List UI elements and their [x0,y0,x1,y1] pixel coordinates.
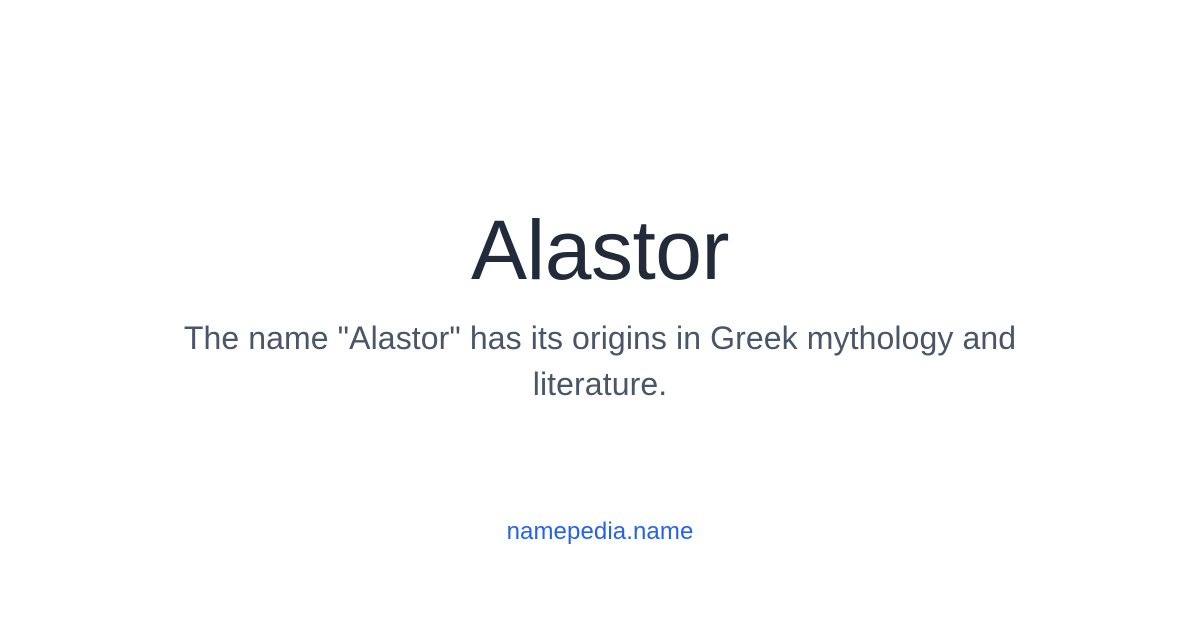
page-title: Alastor [471,206,729,294]
name-description: The name "Alastor" has its origins in Gr… [155,316,1045,407]
site-link-container: namepedia.name [0,518,1200,547]
card-content-block: Alastor The name "Alastor" has its origi… [0,0,1200,407]
site-link[interactable]: namepedia.name [507,518,694,547]
open-graph-preview-card: Alastor The name "Alastor" has its origi… [0,0,1200,630]
